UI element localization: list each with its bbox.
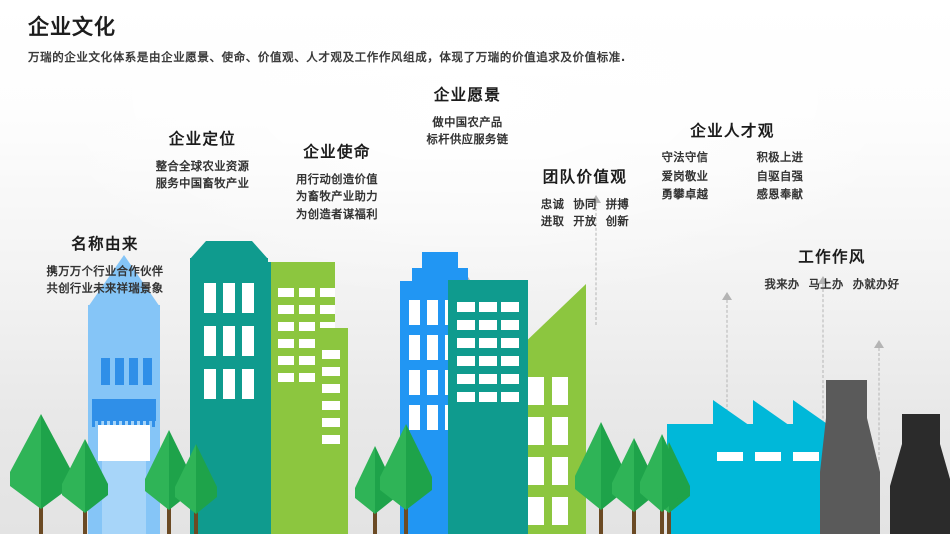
talent-item: 积极上进	[740, 150, 820, 167]
window	[479, 320, 497, 330]
tree	[380, 424, 432, 534]
tree-crown-left	[145, 430, 169, 510]
block-lines: 携万万个行业合作伙伴 共创行业未来祥瑞景象	[0, 263, 210, 298]
page-title: 企业文化	[28, 14, 626, 40]
window	[299, 322, 315, 331]
block-title: 企业人才观	[645, 122, 820, 141]
value: 进取	[541, 213, 564, 231]
tree-crown-right	[662, 434, 684, 512]
tree	[640, 434, 684, 534]
value: 马上办	[809, 276, 844, 294]
value: 协同	[573, 196, 596, 214]
value-row: 我来办 马上办 办就办好	[737, 276, 927, 294]
talent-grid: 守法守信 积极上进 爱岗敬业 自驱自强 勇攀卓越 感恩奉献	[645, 150, 820, 205]
tree-crown-left	[612, 438, 634, 512]
block-work-style: 工作作风 我来办 马上办 办就办好	[737, 248, 927, 293]
talent-item: 自驱自强	[740, 169, 820, 186]
tree	[175, 444, 217, 534]
block-title: 名称由来	[0, 235, 210, 254]
talent-item: 勇攀卓越	[645, 187, 725, 204]
window	[479, 356, 497, 366]
window	[278, 339, 294, 348]
window	[552, 497, 568, 525]
tower-shape	[820, 380, 880, 534]
value: 忠诚	[541, 196, 564, 214]
line: 标杆供应服务链	[385, 131, 550, 149]
block-title: 团队价值观	[510, 168, 660, 187]
window	[223, 283, 235, 313]
value-row: 忠诚 协同 拼搏	[510, 196, 660, 214]
window	[528, 377, 544, 405]
window	[457, 374, 475, 384]
block-team-values: 团队价值观 忠诚 协同 拼搏 进取 开放 创新	[510, 168, 660, 231]
window	[479, 374, 497, 384]
window	[242, 369, 254, 399]
window	[409, 335, 420, 360]
line: 用行动创造价值	[258, 171, 416, 189]
tree	[62, 439, 108, 534]
tree-trunk	[167, 506, 171, 534]
tree-trunk	[599, 506, 603, 534]
window	[299, 339, 315, 348]
window	[552, 457, 568, 485]
window	[501, 392, 519, 402]
window	[278, 322, 294, 331]
window	[552, 417, 568, 445]
tree-crown-left	[175, 444, 196, 514]
window	[322, 435, 340, 444]
window	[320, 305, 335, 314]
block-lines: 我来办 马上办 办就办好	[737, 276, 927, 294]
window	[501, 302, 519, 312]
tree-crown-left	[355, 446, 375, 514]
window	[501, 338, 519, 348]
edge-shadow	[268, 262, 271, 534]
window	[479, 302, 497, 312]
window	[322, 350, 340, 359]
block-mission: 企业使命 用行动创造价值 为畜牧产业助力 为创造者谋福利	[258, 143, 416, 223]
window	[501, 320, 519, 330]
window	[278, 305, 294, 314]
line: 携万万个行业合作伙伴	[0, 263, 210, 281]
block-lines: 用行动创造价值 为畜牧产业助力 为创造者谋福利	[258, 171, 416, 224]
window	[223, 369, 235, 399]
factory-window	[793, 452, 819, 461]
window	[528, 457, 544, 485]
window	[101, 358, 110, 385]
line: 做中国农产品	[385, 114, 550, 132]
talent-item: 爱岗敬业	[645, 169, 725, 186]
window	[457, 338, 475, 348]
tree-crown-left	[380, 424, 406, 510]
block-talent-view: 企业人才观 守法守信 积极上进 爱岗敬业 自驱自强 勇攀卓越 感恩奉献	[645, 122, 820, 204]
window	[278, 356, 294, 365]
value: 拼搏	[606, 196, 629, 214]
window	[427, 370, 438, 395]
window	[501, 356, 519, 366]
window	[528, 417, 544, 445]
window	[457, 356, 475, 366]
window	[457, 320, 475, 330]
window	[299, 356, 315, 365]
value: 开放	[573, 213, 596, 231]
line: 为创造者谋福利	[258, 206, 416, 224]
tree-crown-right	[196, 444, 217, 514]
line: 为畜牧产业助力	[258, 188, 416, 206]
window	[320, 288, 335, 297]
value: 我来办	[765, 276, 800, 294]
window	[528, 497, 544, 525]
window	[322, 367, 340, 376]
block-lines: 做中国农产品 标杆供应服务链	[385, 114, 550, 149]
tree-trunk	[404, 506, 408, 534]
window	[129, 358, 138, 385]
tree-crown-right	[85, 439, 108, 513]
window	[299, 373, 315, 382]
dark-cooling-tower	[890, 414, 950, 534]
value: 办就办好	[853, 276, 900, 294]
block-title: 工作作风	[737, 248, 927, 267]
tree-crown-right	[406, 424, 432, 510]
talent-item: 守法守信	[645, 150, 725, 167]
block-title: 企业愿景	[385, 86, 550, 105]
header: 企业文化 万瑞的企业文化体系是由企业愿景、使命、价值观、人才观及工作作风组成，体…	[28, 14, 626, 65]
window	[115, 358, 124, 385]
block-vision: 企业愿景 做中国农产品 标杆供应服务链	[385, 86, 550, 149]
value-row: 进取 开放 创新	[510, 213, 660, 231]
window	[322, 401, 340, 410]
window	[204, 326, 216, 356]
window	[223, 326, 235, 356]
small-green-building	[320, 328, 348, 534]
window	[278, 373, 294, 382]
page-subtitle: 万瑞的企业文化体系是由企业愿景、使命、价值观、人才观及工作作风组成，体现了万瑞的…	[28, 49, 626, 65]
teal-midrise-building	[448, 280, 528, 534]
tree-crown-left	[640, 434, 662, 512]
window	[427, 300, 438, 325]
awning	[92, 399, 156, 421]
window	[501, 374, 519, 384]
window	[299, 288, 315, 297]
slide-canvas: 企业文化 万瑞的企业文化体系是由企业愿景、使命、价值观、人才观及工作作风组成，体…	[0, 0, 950, 534]
tree-crown-left	[575, 422, 601, 510]
window	[242, 283, 254, 313]
talent-item: 感恩奉献	[740, 187, 820, 204]
window	[427, 335, 438, 360]
tree-crown-left	[10, 414, 41, 509]
window	[299, 305, 315, 314]
window	[204, 369, 216, 399]
line: 共创行业未来祥瑞景象	[0, 280, 210, 298]
window	[457, 392, 475, 402]
value: 创新	[606, 213, 629, 231]
block-lines: 忠诚 协同 拼搏 进取 开放 创新	[510, 196, 660, 231]
window	[242, 326, 254, 356]
gray-cooling-tower	[820, 380, 880, 534]
window	[322, 384, 340, 393]
window	[479, 392, 497, 402]
window	[322, 418, 340, 427]
window	[409, 370, 420, 395]
window	[552, 377, 568, 405]
tower-shape	[890, 414, 950, 534]
window	[278, 288, 294, 297]
factory-window	[717, 452, 743, 461]
window	[479, 338, 497, 348]
block-name-origin: 名称由来 携万万个行业合作伙伴 共创行业未来祥瑞景象	[0, 235, 210, 298]
window	[143, 358, 152, 385]
tree-crown-left	[62, 439, 85, 513]
window	[457, 302, 475, 312]
factory-window	[755, 452, 781, 461]
window	[409, 300, 420, 325]
